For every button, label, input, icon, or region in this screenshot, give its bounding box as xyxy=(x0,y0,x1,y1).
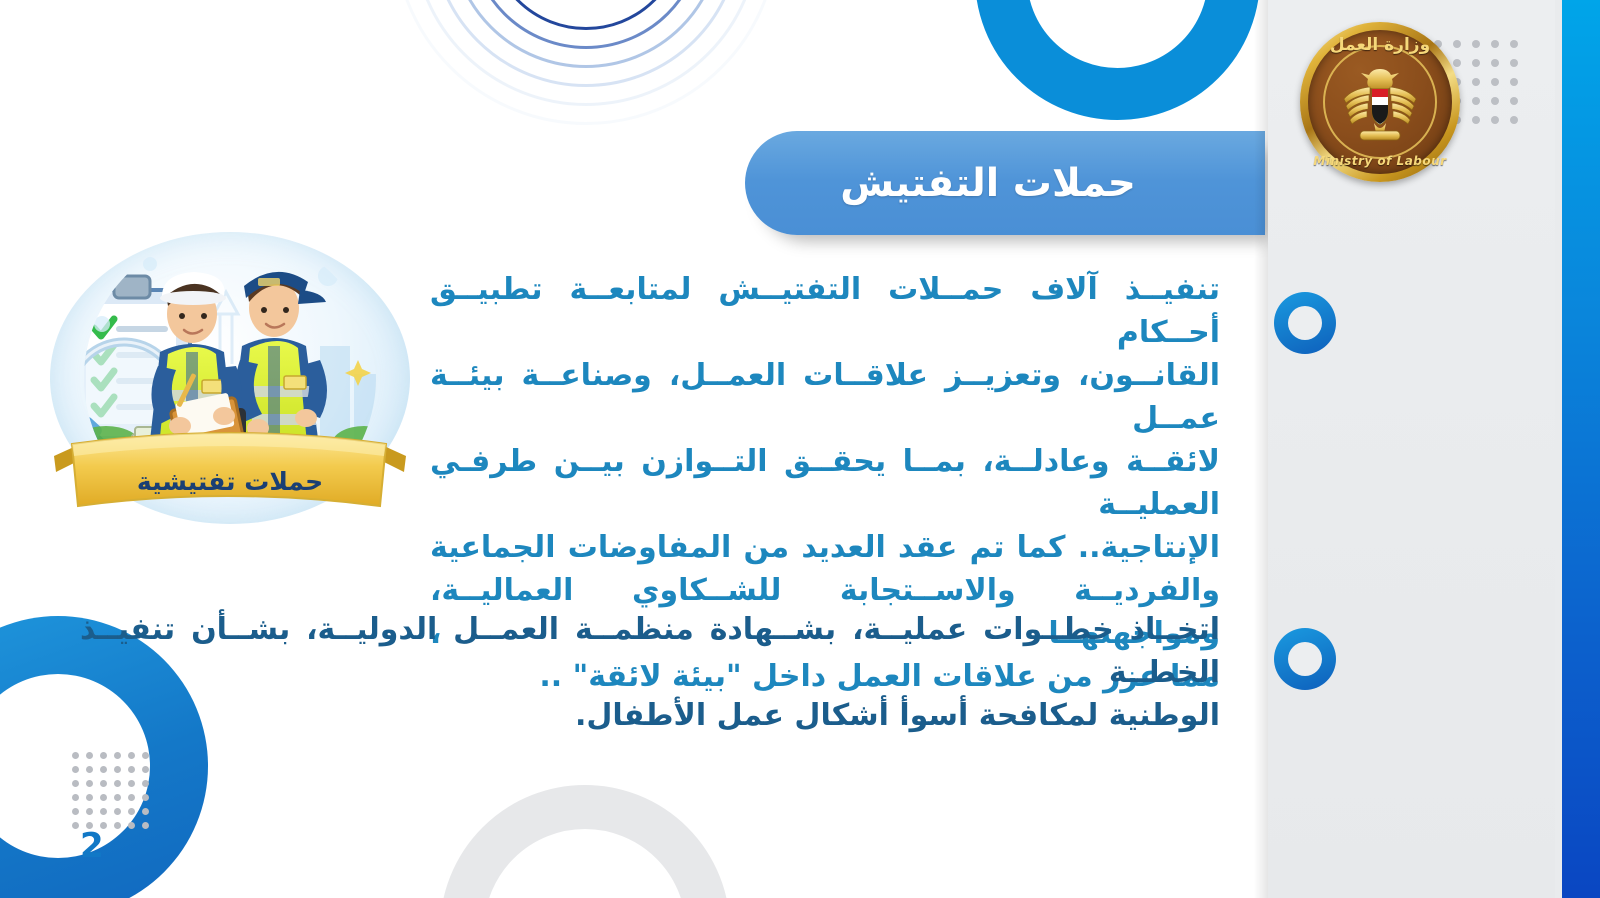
grid-dot xyxy=(114,822,121,829)
seal-english-text: Ministry of Labour xyxy=(1300,154,1460,168)
grid-dot xyxy=(72,808,79,815)
grid-dot xyxy=(72,766,79,773)
grid-dot xyxy=(114,780,121,787)
section-title-banner: حملات التفتيش xyxy=(745,131,1265,235)
grid-dot xyxy=(86,766,93,773)
grid-dot xyxy=(100,752,107,759)
right-edge-gradient-bar xyxy=(1562,0,1600,898)
sidebar-blue-ring-lower xyxy=(1274,628,1336,690)
grid-dot xyxy=(100,794,107,801)
edge-bar-gap xyxy=(1555,0,1562,898)
grid-dot xyxy=(1510,40,1518,48)
grid-dot xyxy=(1472,78,1480,86)
grid-dot xyxy=(1510,116,1518,124)
grid-dot xyxy=(128,794,135,801)
grid-dot xyxy=(72,822,79,829)
grid-dot xyxy=(100,766,107,773)
inspection-campaign-illustration: حملات تفتيشية xyxy=(28,228,428,538)
grid-dot xyxy=(142,794,149,801)
grid-dot xyxy=(1491,116,1499,124)
grid-dot xyxy=(128,808,135,815)
concentric-rings-decoration xyxy=(402,0,770,116)
grid-dot xyxy=(1491,40,1499,48)
grid-dot xyxy=(114,794,121,801)
grid-dot xyxy=(100,808,107,815)
bottom-center-grey-ring xyxy=(440,785,730,898)
grid-dot xyxy=(72,752,79,759)
text-line: الوطنية لمكافحة أسوأ أشكال عمل الأطفال. xyxy=(80,694,1220,737)
grid-dot xyxy=(100,780,107,787)
text-line: الإنتاجية.. كما تم عقد العديد من المفاوض… xyxy=(430,526,1220,569)
grid-dot xyxy=(1491,78,1499,86)
text-line: القانــون، وتعزيــز علاقــات العمــل، وص… xyxy=(430,354,1220,440)
eagle-of-saladin-icon xyxy=(1336,65,1424,143)
grid-dot xyxy=(142,780,149,787)
slide-canvas: 2 xyxy=(0,0,1600,898)
section-title-text: حملات التفتيش xyxy=(840,161,1136,206)
grid-dot xyxy=(1491,59,1499,67)
grid-dot xyxy=(1491,97,1499,105)
grid-dot xyxy=(128,822,135,829)
grid-dot xyxy=(1510,78,1518,86)
grid-dot xyxy=(114,752,121,759)
grid-dot xyxy=(86,808,93,815)
ministry-logo: وزارة العمل Ministry of Labour xyxy=(1300,22,1460,182)
page-number: 2 xyxy=(80,826,104,866)
grid-dot xyxy=(128,752,135,759)
grid-dot xyxy=(1472,40,1480,48)
text-line: اتخــاذ خطــوات عمليــة، بشــهادة منظمــ… xyxy=(80,608,1220,694)
grid-dot xyxy=(1472,116,1480,124)
grid-dot xyxy=(86,752,93,759)
body-paragraph-2: اتخــاذ خطــوات عمليــة، بشــهادة منظمــ… xyxy=(80,608,1220,737)
grid-dot xyxy=(114,808,121,815)
grid-dot xyxy=(1472,97,1480,105)
grid-dot xyxy=(142,766,149,773)
ribbon-label: حملات تفتيشية xyxy=(137,467,323,496)
grid-dot xyxy=(142,752,149,759)
text-line: تنفيــذ آلاف حمــلات التفتيــش لمتابعــة… xyxy=(430,268,1220,354)
grid-dot xyxy=(128,780,135,787)
grid-dot xyxy=(1510,97,1518,105)
grid-dot xyxy=(142,808,149,815)
grid-dot xyxy=(1510,59,1518,67)
grid-dot xyxy=(142,822,149,829)
seal-arabic-text: وزارة العمل xyxy=(1300,35,1460,55)
grid-dot xyxy=(86,794,93,801)
grid-dot xyxy=(86,780,93,787)
grid-dot xyxy=(72,794,79,801)
text-line: لائقــة وعادلــة، بمــا يحقــق التــوازن… xyxy=(430,440,1220,526)
top-right-blue-arc xyxy=(975,0,1260,120)
grid-dot xyxy=(1472,59,1480,67)
grid-dot xyxy=(72,780,79,787)
grid-dot xyxy=(114,766,121,773)
sidebar-blue-ring-upper xyxy=(1274,292,1336,354)
grid-dot xyxy=(128,766,135,773)
